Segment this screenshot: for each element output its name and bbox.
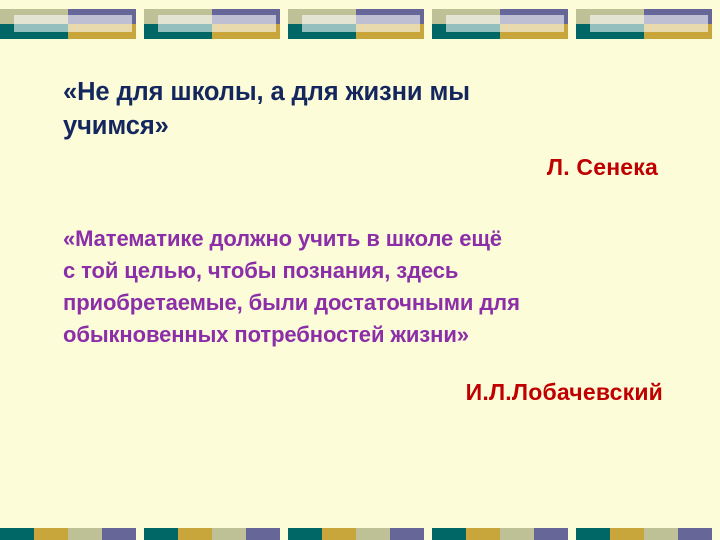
quote-line: учимся» — [63, 110, 598, 144]
band-unit — [576, 9, 712, 39]
quote-seneca-author: Л. Сенека — [63, 154, 658, 181]
bottom-seg-purple — [246, 528, 280, 540]
top-decorative-band — [0, 9, 720, 39]
bottom-seg-sage — [68, 528, 102, 540]
quote-line: «Не для школы, а для жизни мы — [63, 76, 598, 110]
slide-content: «Не для школы, а для жизни мы учимся» Л.… — [63, 76, 663, 406]
bottom-seg-purple — [390, 528, 424, 540]
bottom-seg-teal — [432, 528, 466, 540]
band-unit — [432, 9, 568, 39]
bottom-seg-gold — [178, 528, 212, 540]
bottom-band-unit — [144, 528, 280, 540]
bottom-seg-sage — [500, 528, 534, 540]
quote-line: «Математике должно учить в школе ещё — [63, 223, 663, 255]
bottom-seg-teal — [576, 528, 610, 540]
band-overlay — [14, 15, 132, 32]
bottom-seg-purple — [534, 528, 568, 540]
bottom-decorative-band — [0, 528, 720, 540]
quote-lobachevsky-text: «Математике должно учить в школе ещё с т… — [63, 223, 663, 351]
quote-lobachevsky-author: И.Л.Лобачевский — [63, 379, 663, 406]
bottom-band-unit — [432, 528, 568, 540]
bottom-seg-teal — [144, 528, 178, 540]
bottom-seg-purple — [102, 528, 136, 540]
band-overlay — [590, 15, 708, 32]
bottom-band-unit — [0, 528, 136, 540]
bottom-seg-sage — [212, 528, 246, 540]
bottom-seg-teal — [0, 528, 34, 540]
bottom-seg-purple — [678, 528, 712, 540]
quote-line: обыкновенных потребностей жизни» — [63, 319, 663, 351]
bottom-seg-teal — [288, 528, 322, 540]
quote-seneca-text: «Не для школы, а для жизни мы учимся» — [63, 76, 598, 143]
quote-line: приобретаемые, были достаточными для — [63, 287, 663, 319]
quote-line: с той целью, чтобы познания, здесь — [63, 255, 663, 287]
bottom-seg-gold — [466, 528, 500, 540]
bottom-seg-gold — [610, 528, 644, 540]
bottom-seg-gold — [322, 528, 356, 540]
band-overlay — [158, 15, 276, 32]
bottom-seg-sage — [644, 528, 678, 540]
bottom-seg-sage — [356, 528, 390, 540]
band-overlay — [302, 15, 420, 32]
bottom-band-unit — [288, 528, 424, 540]
bottom-seg-gold — [34, 528, 68, 540]
band-unit — [0, 9, 136, 39]
bottom-band-unit — [576, 528, 712, 540]
slide-canvas: «Не для школы, а для жизни мы учимся» Л.… — [0, 0, 720, 540]
band-unit — [144, 9, 280, 39]
band-unit — [288, 9, 424, 39]
band-overlay — [446, 15, 564, 32]
